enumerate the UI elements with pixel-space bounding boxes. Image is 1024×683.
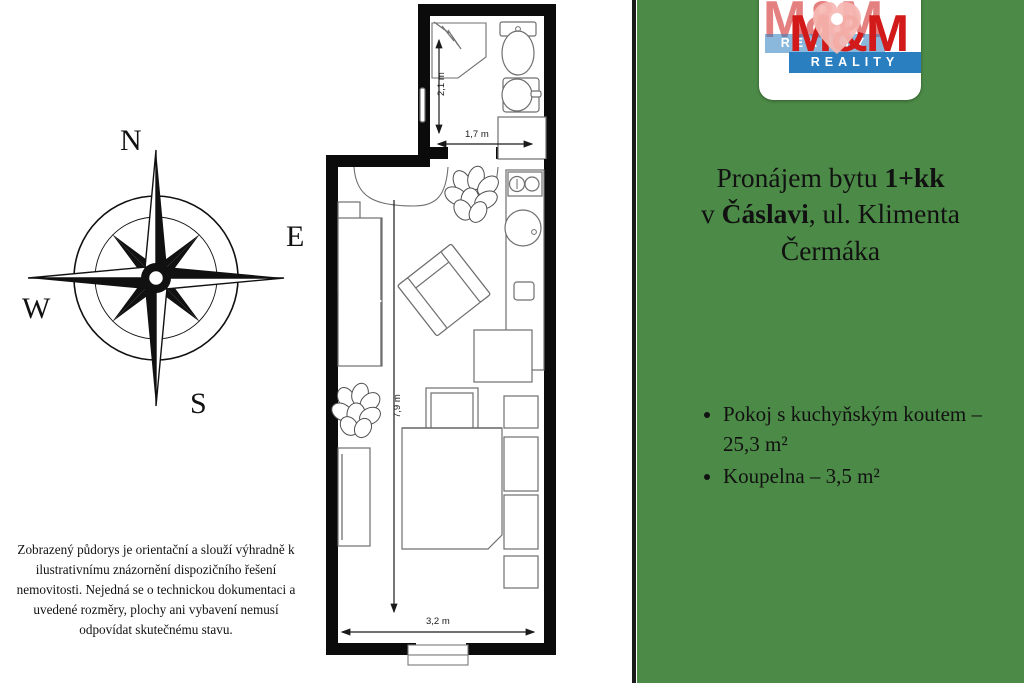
compass-label-north: N <box>120 124 142 157</box>
shower-tray <box>432 23 486 78</box>
bed <box>402 428 502 549</box>
list-item: Pokoj s kuchyňským koutem – 25,3 m² <box>723 400 1019 460</box>
compass-rose: N E S W <box>18 118 308 428</box>
toilet-fixture <box>500 22 536 75</box>
listing-floorplan-page: N E S W Zobrazený půdorys je orientační … <box>0 0 1024 683</box>
wall-room-right <box>544 159 556 655</box>
dim-bathroom-height: 2,1 m <box>436 40 447 133</box>
wall-room-bottom-right <box>466 643 556 655</box>
list-item: Koupelna – 3,5 m² <box>723 462 1019 492</box>
compass-svg: N E S W <box>18 118 308 428</box>
title-line-1: Pronájem bytu 1+kk <box>647 160 1014 196</box>
nightstand-top <box>504 437 538 491</box>
kitchen-appliance <box>514 282 534 300</box>
mm-reality-logo[interactable]: M&M REALITY M&M REALITY <box>759 0 921 100</box>
title-line-3: Čermáka <box>647 233 1014 269</box>
door-swing-left <box>354 167 414 206</box>
feature-list: Pokoj s kuchyňským koutem – 25,3 m² Koup… <box>699 400 1019 493</box>
tv-unit <box>338 448 370 546</box>
compass-label-west: W <box>22 292 51 325</box>
kitchen-sink <box>505 210 541 246</box>
wall-room-bottom-left <box>326 643 416 655</box>
compass-label-south: S <box>190 387 207 420</box>
shower-head-icon <box>434 22 461 49</box>
info-panel: M&M REALITY M&M REALITY Pronájem bytu 1+… <box>637 0 1024 683</box>
heart-icon <box>811 0 863 56</box>
plant-upper <box>442 164 503 225</box>
wardrobe-middle <box>338 218 382 366</box>
entrance-door <box>408 645 468 665</box>
door-swing-left-b <box>414 167 448 206</box>
shelf-below-bed <box>504 556 538 588</box>
wall-room-top-left <box>326 155 430 167</box>
dim-room-height-label: 7,9 m <box>392 394 403 418</box>
shelf-above-bed <box>504 396 538 428</box>
washing-machine <box>498 117 546 159</box>
washbasin-fixture <box>502 78 541 112</box>
dim-bath-height-label: 2,1 m <box>436 72 447 96</box>
dim-room-width-label: 3,2 m <box>426 616 450 627</box>
panel-divider <box>632 0 636 683</box>
dim-bath-width-label: 1,7 m <box>465 129 489 140</box>
dim-room-height: 7,9 m <box>392 200 403 612</box>
cooktop <box>508 172 542 196</box>
wall-bath-left <box>418 4 430 159</box>
dim-room-width: 3,2 m <box>342 616 534 632</box>
nightstand-bottom <box>504 495 538 549</box>
side-table <box>474 330 532 382</box>
compass-label-east: E <box>286 220 304 253</box>
title-line-2: v Čáslavi, ul. Klimenta <box>647 196 1014 232</box>
wall-bath-top <box>418 4 556 16</box>
disclaimer-text: Zobrazený půdorys je orientační a slouží… <box>8 540 304 640</box>
floorplan: .wall{fill:#0b0b0b;} .furn{fill:#ffffff;… <box>318 0 576 683</box>
bath-door-panel <box>420 88 425 122</box>
sofa <box>398 244 491 336</box>
page-title: Pronájem bytu 1+kk v Čáslavi, ul. Klimen… <box>647 160 1014 269</box>
floorplan-svg: .wall{fill:#0b0b0b;} .furn{fill:#ffffff;… <box>318 0 576 683</box>
